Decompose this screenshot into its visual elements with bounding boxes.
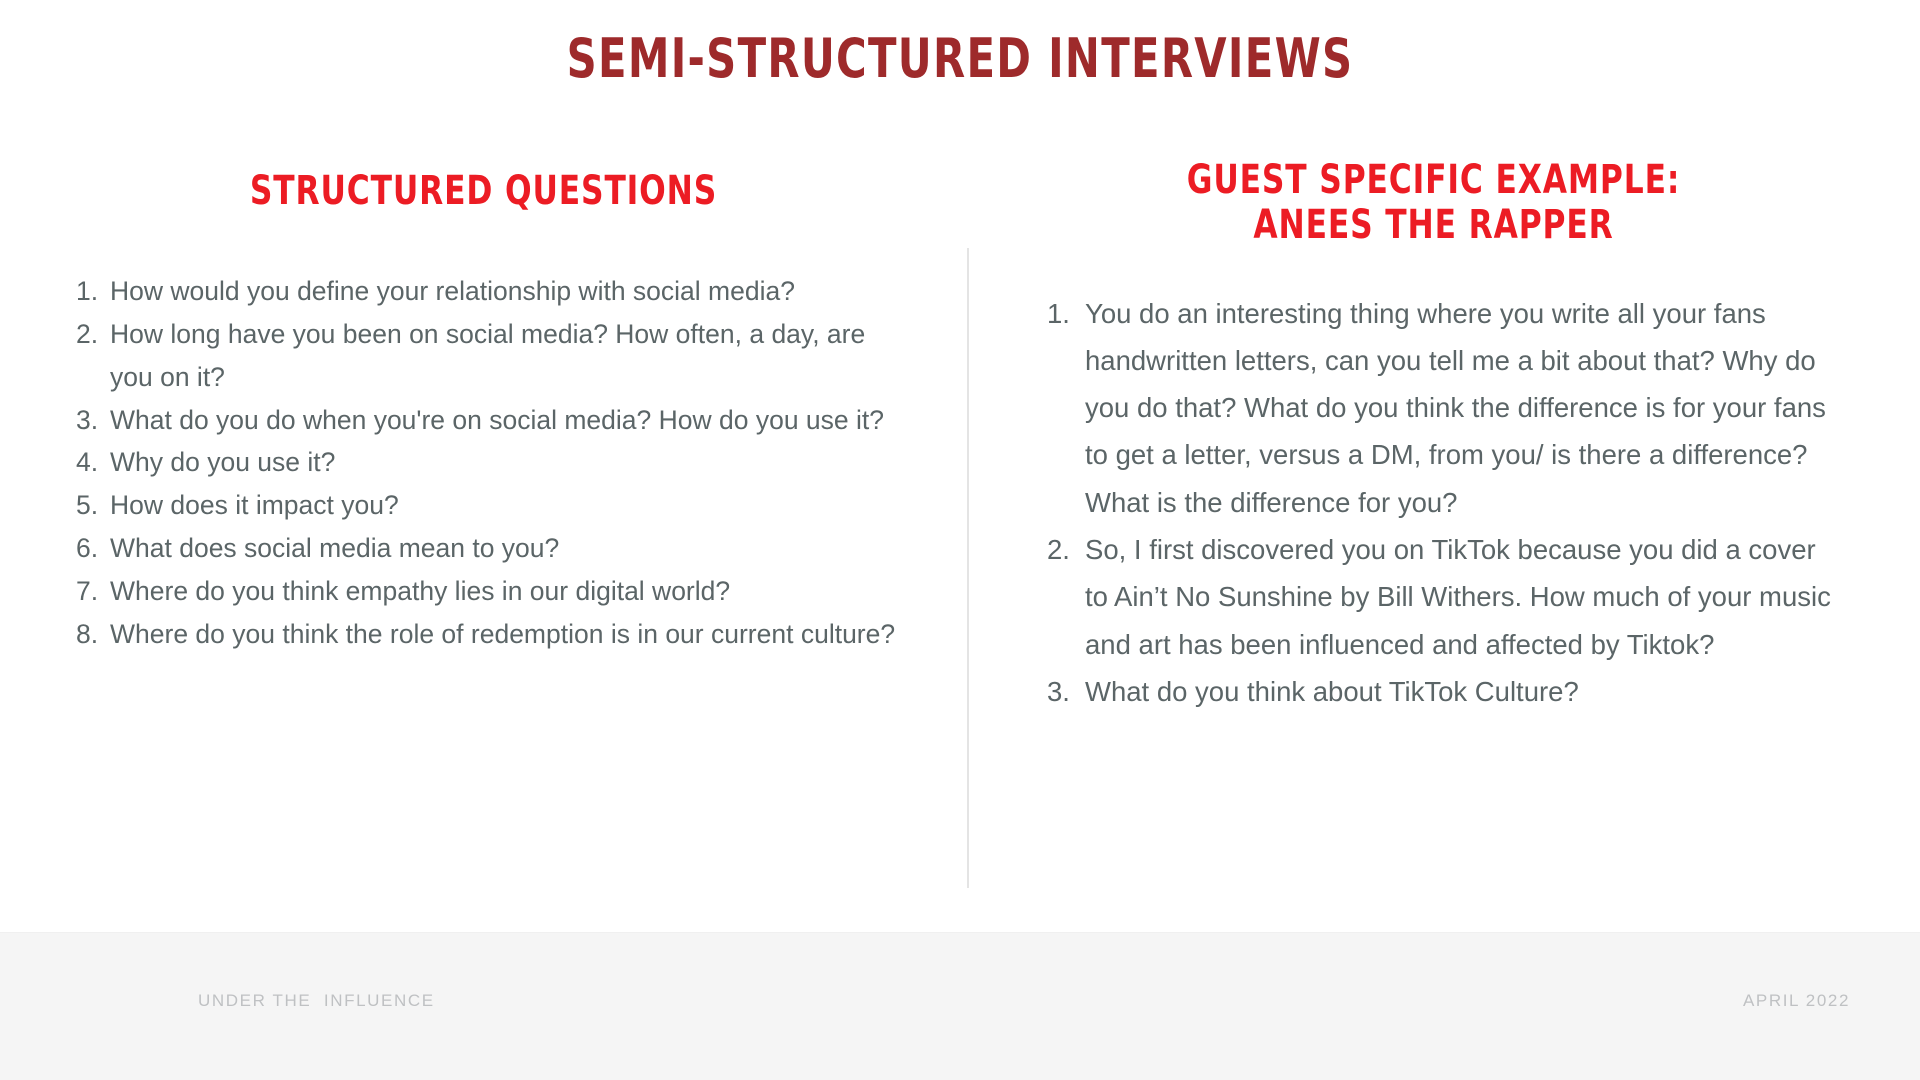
list-item: What do you do when you're on social med… (76, 399, 907, 442)
slide: SEMI-STRUCTURED INTERVIEWS STRUCTURED QU… (0, 0, 1920, 1080)
list-item: So, I first discovered you on TikTok bec… (1047, 526, 1840, 668)
heading-line-1: GUEST SPECIFIC EXAMPLE: (1187, 157, 1680, 203)
guest-specific-example-column: GUEST SPECIFIC EXAMPLE: ANEES THE RAPPER… (967, 86, 1920, 932)
guest-questions-list: You do an interesting thing where you wr… (1027, 290, 1840, 716)
list-item: Why do you use it? (76, 441, 907, 484)
guest-specific-example-heading: GUEST SPECIFIC EXAMPLE: ANEES THE RAPPER (1080, 158, 1787, 248)
list-item: How long have you been on social media? … (76, 313, 907, 399)
footer-date: APRIL 2022 (1743, 991, 1850, 1011)
list-item: How does it impact you? (76, 484, 907, 527)
structured-questions-column: STRUCTURED QUESTIONS How would you defin… (0, 86, 967, 932)
structured-questions-heading: STRUCTURED QUESTIONS (115, 169, 852, 214)
list-item: You do an interesting thing where you wr… (1047, 290, 1840, 526)
footer-project-name: UNDER THE INFLUENCE (198, 991, 435, 1011)
list-item: Where do you think empathy lies in our d… (76, 570, 907, 613)
content-columns: STRUCTURED QUESTIONS How would you defin… (0, 86, 1920, 932)
slide-footer: UNDER THE INFLUENCE APRIL 2022 (0, 932, 1920, 1080)
list-item: How would you define your relationship w… (76, 270, 907, 313)
structured-questions-list: How would you define your relationship w… (60, 270, 907, 656)
page-title: SEMI-STRUCTURED INTERVIEWS (134, 0, 1785, 86)
heading-line-2: ANEES THE RAPPER (1080, 203, 1787, 248)
list-item: What does social media mean to you? (76, 527, 907, 570)
list-item: What do you think about TikTok Culture? (1047, 668, 1840, 715)
list-item: Where do you think the role of redemptio… (76, 613, 907, 656)
